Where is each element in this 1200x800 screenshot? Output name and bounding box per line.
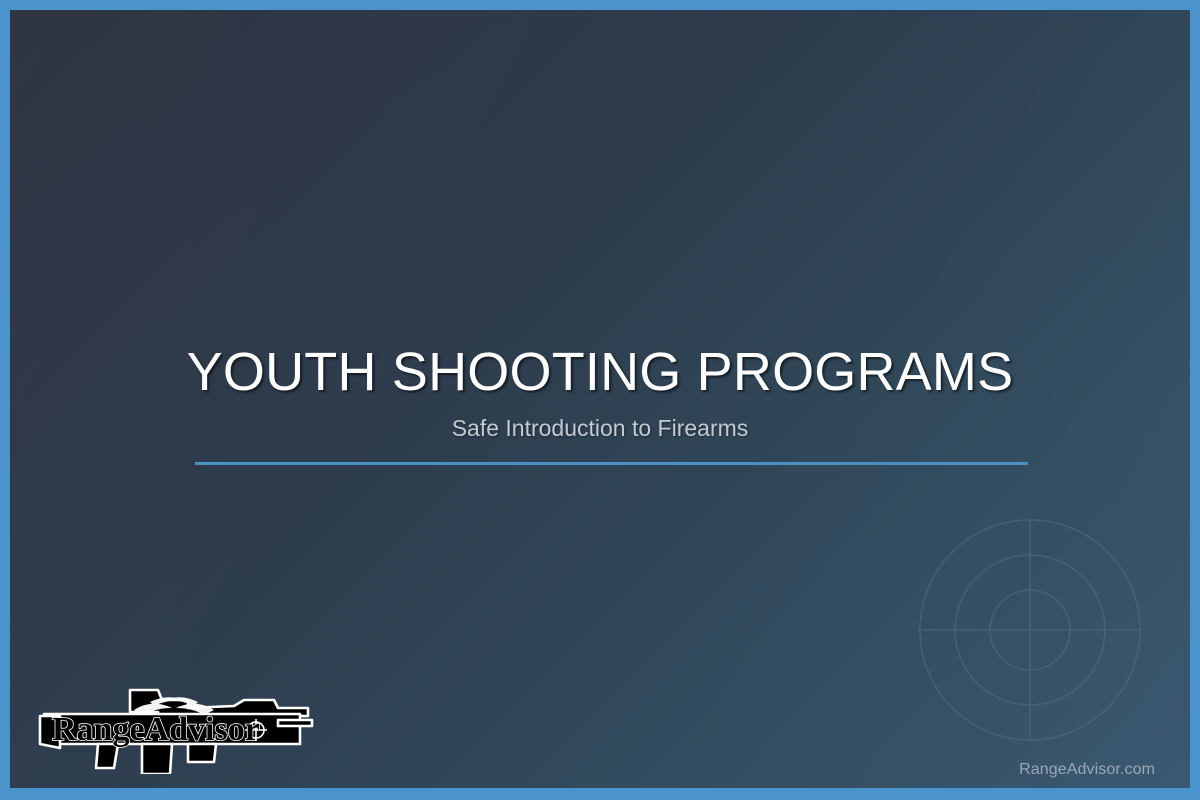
brand-logo: RangeAdvisor <box>38 682 316 774</box>
brand-wordmark: RangeAdvisor <box>52 711 260 748</box>
presentation-slide: YOUTH SHOOTING PROGRAMS Safe Introductio… <box>0 0 1200 800</box>
accent-divider <box>195 462 1028 465</box>
page-title: YOUTH SHOOTING PROGRAMS <box>10 342 1190 402</box>
footer-url: RangeAdvisor.com <box>1019 760 1155 780</box>
slide-canvas: YOUTH SHOOTING PROGRAMS Safe Introductio… <box>10 10 1190 788</box>
title-block: YOUTH SHOOTING PROGRAMS Safe Introductio… <box>10 342 1190 442</box>
crosshair-target-icon <box>910 510 1150 750</box>
page-subtitle: Safe Introduction to Firearms <box>10 414 1190 442</box>
